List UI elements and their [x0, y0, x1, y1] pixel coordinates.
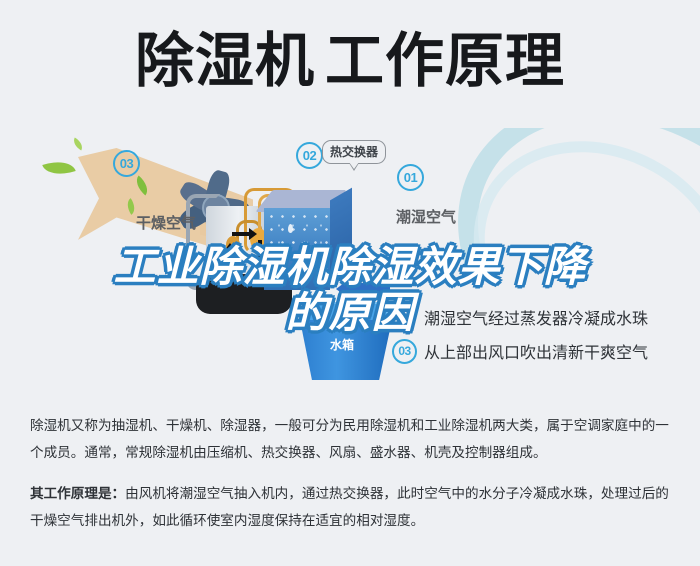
body-paragraph-1: 除湿机又称为抽湿机、干燥机、除湿器，一般可分为民用除湿机和工业除湿机两大类，属于…	[30, 412, 670, 466]
airflow-arrow-icon	[258, 240, 262, 258]
step-text-02: 潮湿空气经过蒸发器冷凝成水珠	[424, 305, 648, 329]
water-droplet-icon	[288, 224, 293, 233]
airflow-arrow-icon	[228, 250, 232, 268]
step-caption-list: 02 潮湿空气经过蒸发器冷凝成水珠 03 从上部出风口吹出清新干爽空气	[392, 300, 700, 368]
body-paragraph-2: 其工作原理是：由风机将潮湿空气抽入机内，通过热交换器，此时空气中的水分子冷凝成水…	[30, 480, 670, 534]
water-droplet-icon	[306, 270, 311, 279]
heat-exchanger-fins	[266, 210, 328, 288]
heat-exchanger-callout: 热交换器	[322, 140, 386, 164]
header: 除湿机工作原理	[0, 0, 700, 128]
moist-air-intake-arrow-icon	[352, 283, 390, 295]
page-title-part1: 除湿机	[135, 28, 315, 94]
water-droplet-icon	[300, 242, 305, 251]
diagram-badge-02: 02	[296, 142, 323, 169]
dry-air-label: 干燥空气	[136, 212, 196, 233]
airflow-arrow-icon	[232, 232, 250, 236]
body-copy: 除湿机又称为抽湿机、干燥机、除湿器，一般可分为民用除湿机和工业除湿机两大类，属于…	[0, 412, 700, 548]
leaf-icon	[71, 138, 85, 151]
step-row: 03 从上部出风口吹出清新干爽空气	[392, 334, 700, 368]
diagram-badge-03: 03	[113, 150, 140, 177]
heat-exchanger-side	[330, 188, 352, 287]
step-text-03: 从上部出风口吹出清新干爽空气	[424, 339, 648, 363]
page-title: 除湿机工作原理	[0, 26, 700, 96]
infographic-page: 除湿机工作原理	[0, 0, 700, 566]
diagram-badge-01: 01	[397, 164, 424, 191]
water-droplet-icon	[280, 256, 285, 265]
step-badge-03: 03	[392, 339, 417, 364]
leaf-icon	[42, 156, 75, 180]
page-title-part2: 工作原理	[325, 28, 565, 94]
water-tank-label: 水箱	[330, 336, 354, 353]
body-paragraph-2-lead: 其工作原理是：	[30, 486, 125, 501]
moist-air-label: 潮湿空气	[396, 206, 456, 227]
body-paragraph-2-rest: 由风机将潮湿空气抽入机内，通过热交换器，此时空气中的水分子冷凝成水珠，处理过后的…	[30, 486, 669, 528]
step-row: 02 潮湿空气经过蒸发器冷凝成水珠	[392, 300, 700, 334]
